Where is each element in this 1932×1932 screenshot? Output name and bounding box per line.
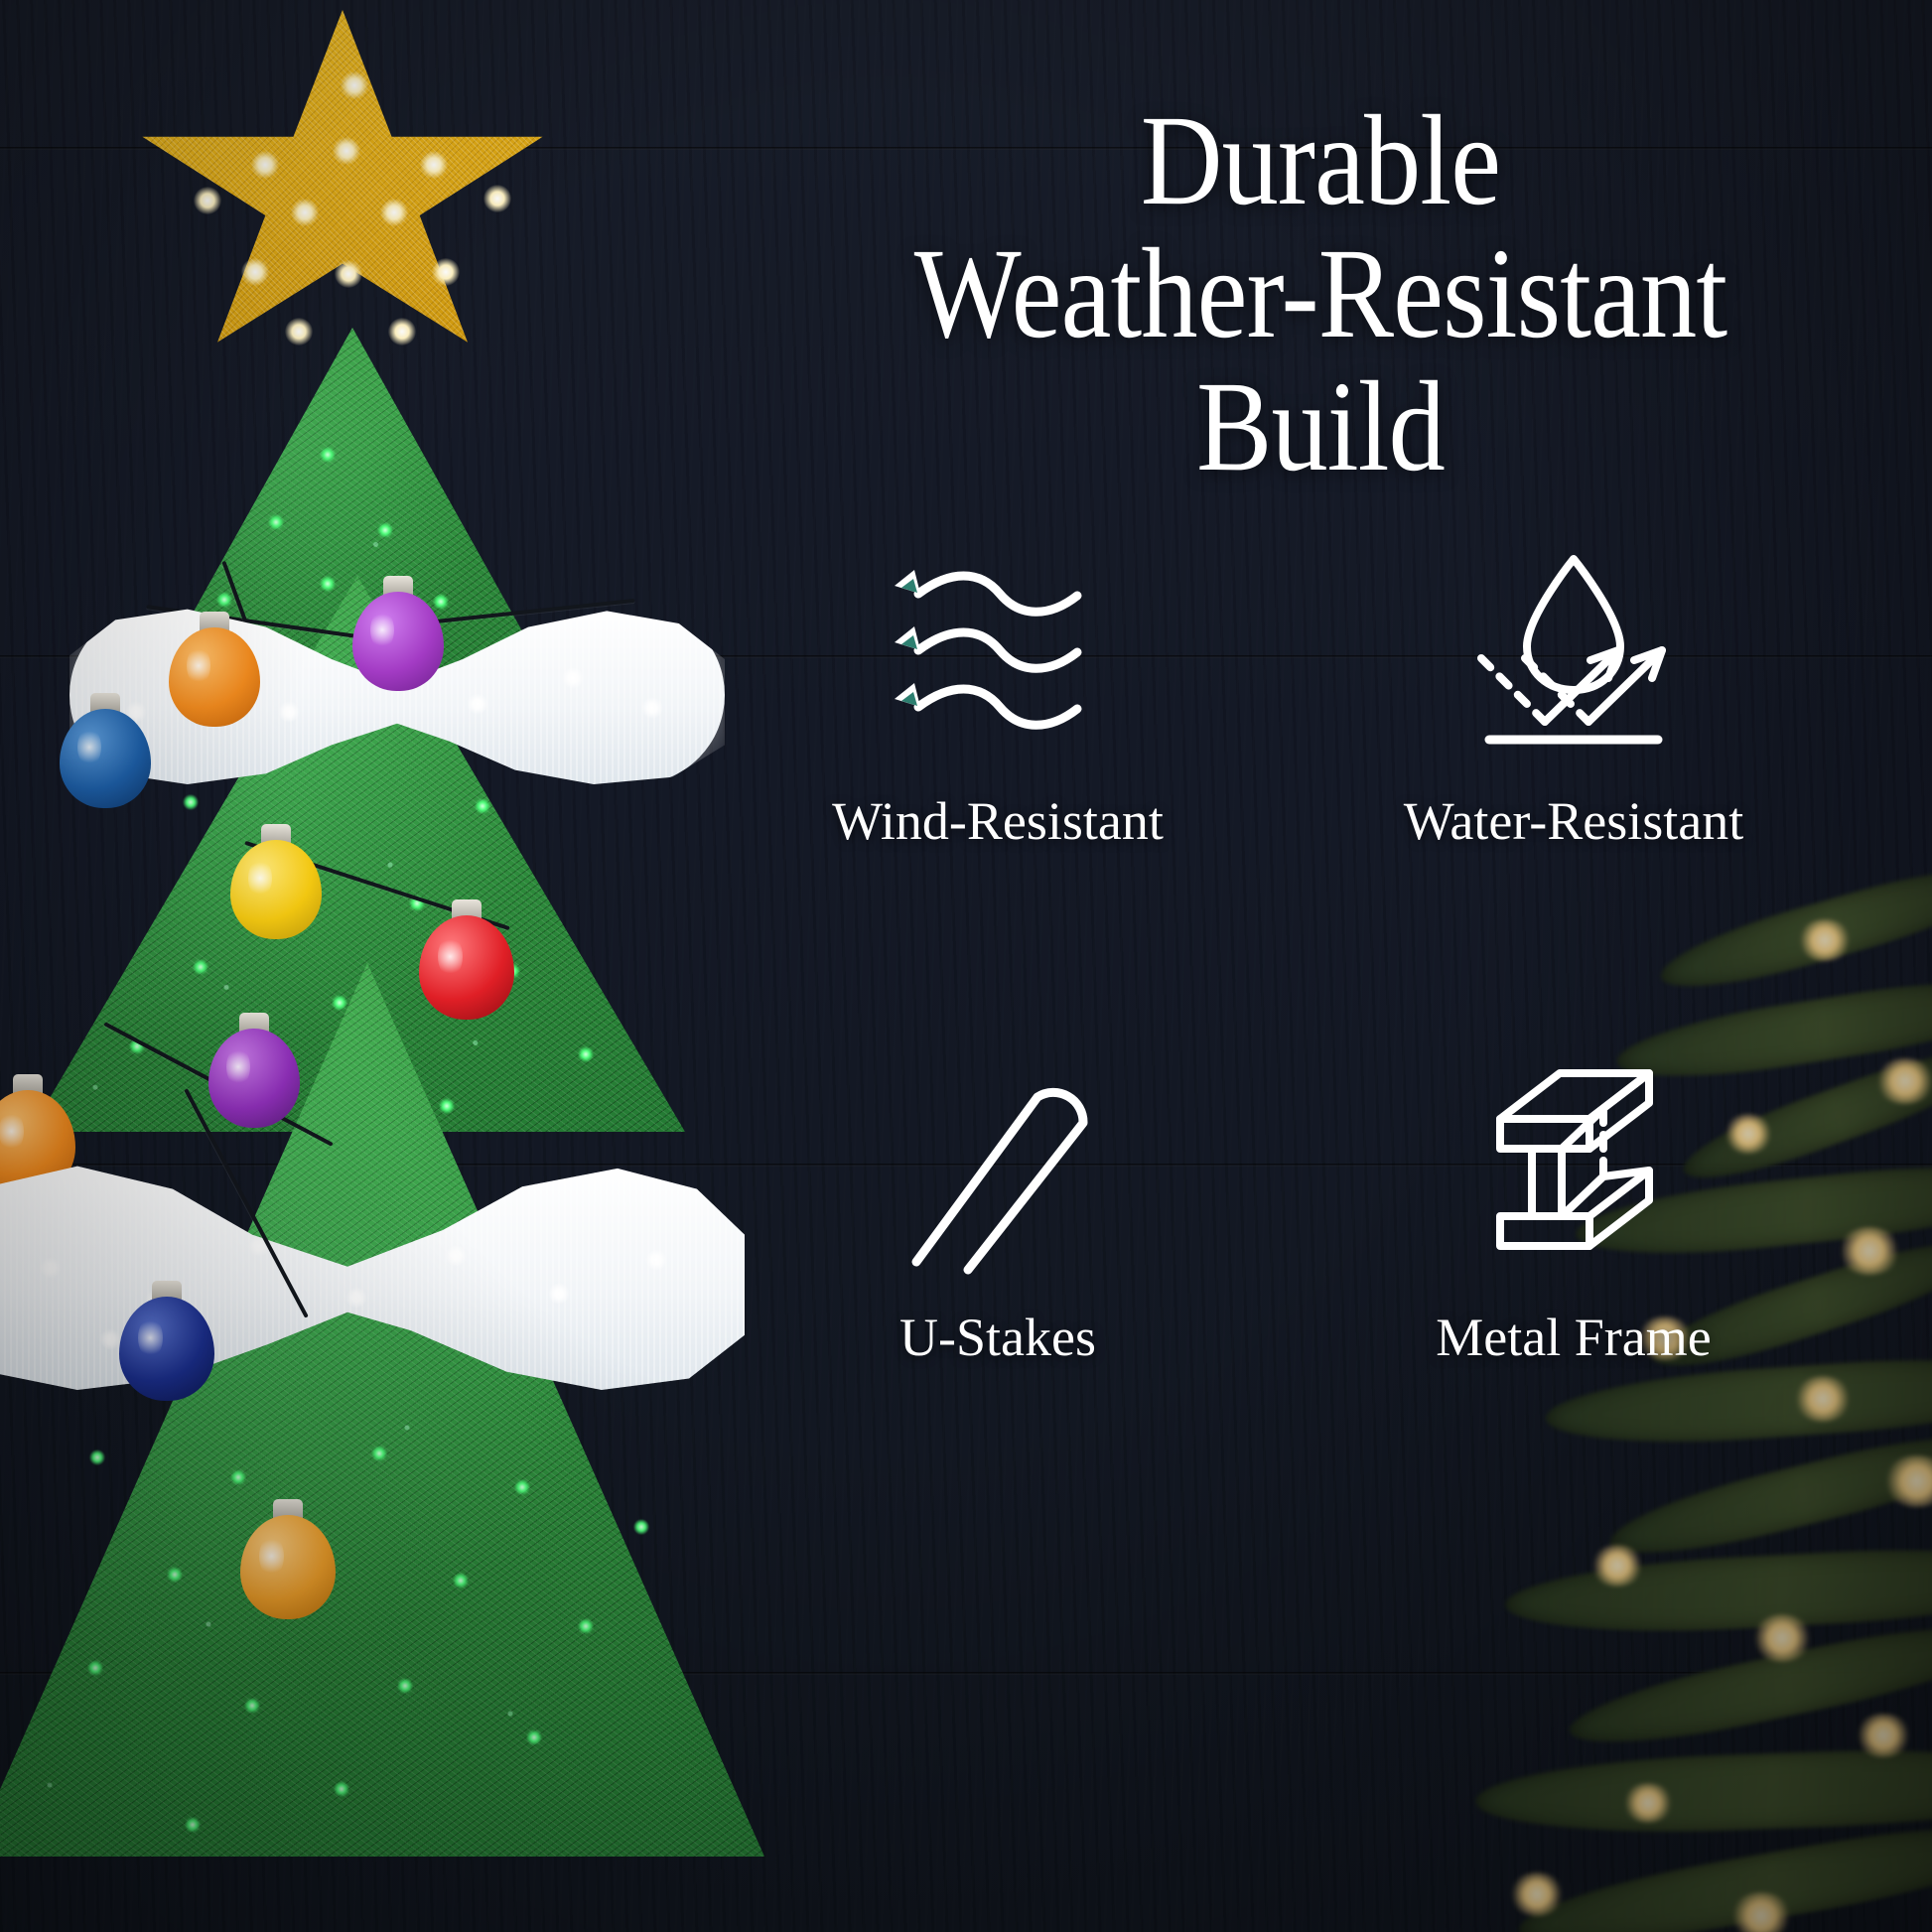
feature-label: Metal Frame: [1436, 1311, 1711, 1364]
feature-label: Wind-Resistant: [832, 794, 1164, 848]
wind-lines-icon: [849, 516, 1147, 784]
feature-grid: Wind-Resistant: [715, 516, 1857, 1519]
page-title: Durable Weather-Resistant Build: [822, 95, 1818, 494]
u-stake-icon: [849, 1033, 1147, 1301]
marketing-feature-slide: Durable Weather-Resistant Build: [0, 0, 1932, 1932]
feature-label: U-Stakes: [899, 1311, 1096, 1364]
feature-metal-frame: Metal Frame: [1291, 1033, 1857, 1519]
feature-wind-resistant: Wind-Resistant: [715, 516, 1281, 1003]
headline-line-2: Weather-Resistant: [822, 228, 1818, 361]
headline-line-1: Durable: [822, 95, 1818, 228]
feature-label: Water-Resistant: [1404, 794, 1743, 848]
i-beam-icon: [1425, 1033, 1723, 1301]
headline-line-3: Build: [822, 361, 1818, 494]
feature-u-stakes: U-Stakes: [715, 1033, 1281, 1519]
feature-water-resistant: Water-Resistant: [1291, 516, 1857, 1003]
water-droplet-repel-icon: [1425, 516, 1723, 784]
